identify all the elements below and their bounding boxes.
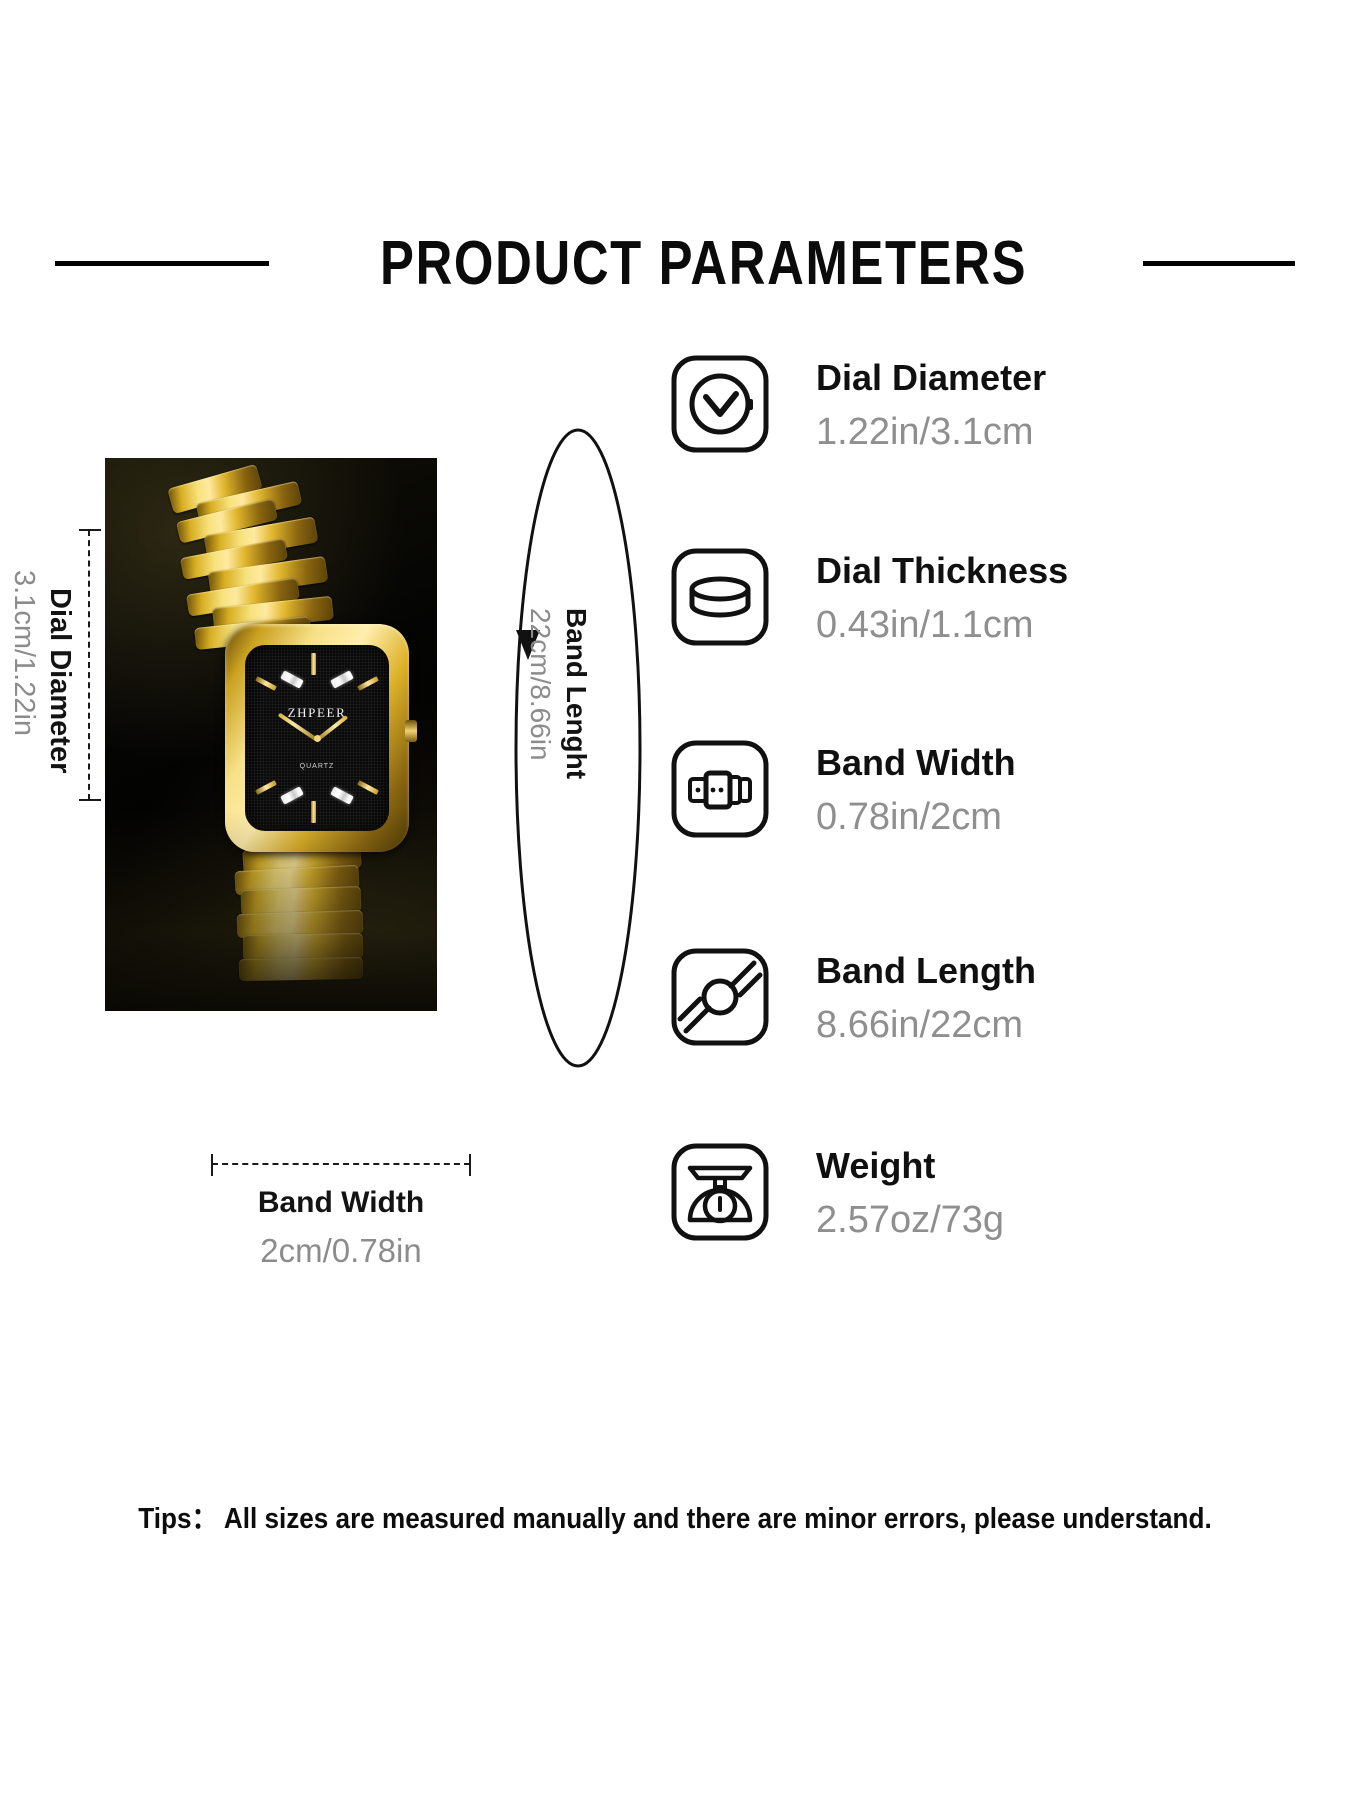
watch-crown [405,720,417,742]
kitchen-scale-icon [668,1140,772,1244]
band-width-dimension-line [212,1163,470,1166]
spec-value: 1.22in/3.1cm [816,412,1046,454]
strap-buckle-icon [668,737,772,841]
spec-row-band-width: Band Width 0.78in/2cm [668,737,1016,841]
spec-value: 8.66in/22cm [816,1005,1036,1047]
dial-brand-text: ZHPEER [245,705,389,721]
watch-dial: ZHPEER QUARTZ [245,645,389,831]
watch-face-icon [668,352,772,456]
page-title: PRODUCT PARAMETERS [380,228,1027,299]
title-rule-left [55,261,269,266]
spec-name: Band Length [816,951,1036,991]
band-length-callout-value: 22cm/8.66in [524,608,556,761]
band-width-callout-name: Band Width [0,1186,682,1220]
spec-texts: Dial Diameter 1.22in/3.1cm [816,352,1046,453]
dial-diameter-callout-name: Dial Diameter [43,588,76,773]
spec-name: Band Width [816,743,1016,783]
cylinder-thickness-icon [668,545,772,649]
title-rule-right [1143,261,1295,266]
spec-name: Dial Thickness [816,551,1068,591]
spec-name: Weight [816,1146,1004,1186]
band-width-callout-value: 2cm/0.78in [0,1232,682,1270]
band-length-callout-name: Band Lenght [560,608,592,779]
spec-value: 0.78in/2cm [816,797,1016,839]
dial-movement-text: QUARTZ [245,763,389,770]
dial-diameter-dimension-line [88,530,91,800]
spec-value: 0.43in/1.1cm [816,605,1068,647]
spec-texts: Band Width 0.78in/2cm [816,737,1016,838]
page-title-row: PRODUCT PARAMETERS [0,218,1350,308]
spec-value: 2.57oz/73g [816,1200,1004,1242]
spec-row-dial-thickness: Dial Thickness 0.43in/1.1cm [668,545,1068,649]
spec-row-dial-diameter: Dial Diameter 1.22in/3.1cm [668,352,1046,456]
spec-row-weight: Weight 2.57oz/73g [668,1140,1004,1244]
spec-texts: Dial Thickness 0.43in/1.1cm [816,545,1068,646]
product-photo: ZHPEER QUARTZ [105,458,437,1011]
spec-texts: Weight 2.57oz/73g [816,1140,1004,1241]
spec-texts: Band Length 8.66in/22cm [816,945,1036,1046]
spec-row-band-length: Band Length 8.66in/22cm [668,945,1036,1049]
watch-strap-diagonal-icon [668,945,772,1049]
spec-name: Dial Diameter [816,358,1046,398]
tips-note: Tips： All sizes are measured manually an… [68,1495,1283,1537]
dial-diameter-callout-value: 3.1cm/1.22in [7,570,40,736]
photo-reflection [105,811,437,1011]
